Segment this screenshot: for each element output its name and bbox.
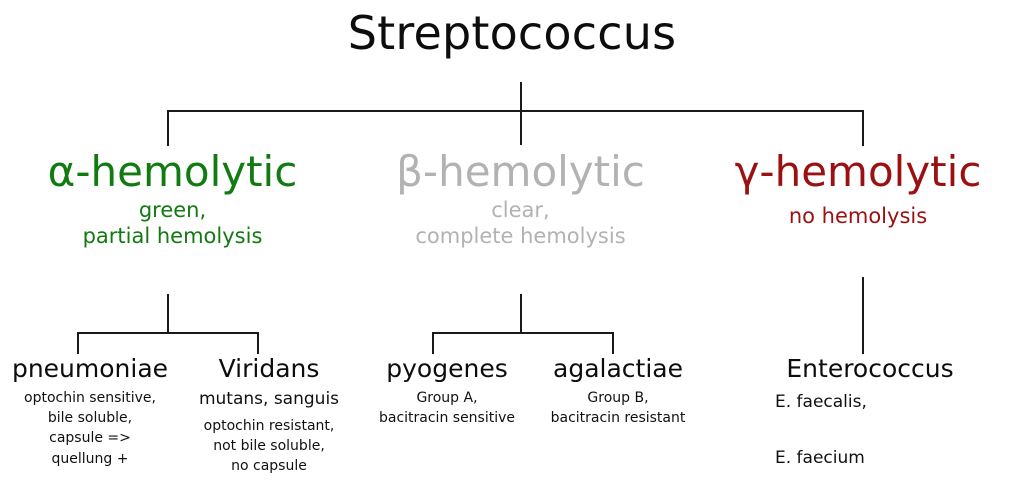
connector-alpha-crossbar: [77, 332, 259, 334]
diagram-canvas: Streptococcus α-hemolytic green, partial…: [0, 0, 1024, 496]
connector-beta-to-agalactiae: [612, 332, 614, 354]
leaf-pneumoniae-note: optochin sensitive, bile soluble, capsul…: [0, 388, 180, 469]
connector-root-to-gamma: [862, 110, 864, 146]
connector-beta-to-pyogenes: [432, 332, 434, 354]
group-gamma-hemolytic: γ-hemolytic no hemolysis: [692, 150, 1024, 230]
leaf-node-viridans: Viridans mutans, sanguis optochin resist…: [178, 355, 360, 476]
leaf-viridans-title: Viridans: [178, 355, 360, 384]
leaf-node-pneumoniae: pneumoniae optochin sensitive, bile solu…: [0, 355, 180, 469]
connector-alpha-stem: [167, 294, 169, 333]
connector-alpha-to-viridans: [257, 332, 259, 354]
group-beta-title: β-hemolytic: [348, 150, 693, 194]
connector-root-stem: [520, 82, 522, 145]
group-beta-hemolytic: β-hemolytic clear, complete hemolysis: [348, 150, 693, 249]
connector-root-to-alpha: [167, 110, 169, 146]
leaf-node-enterococcus: Enterococcus E. faecalis, E. faecium: [745, 355, 995, 472]
leaf-node-agalactiae: agalactiae Group B, bacitracin resistant: [527, 355, 709, 428]
leaf-pneumoniae-title: pneumoniae: [0, 355, 180, 384]
group-alpha-hemolytic: α-hemolytic green, partial hemolysis: [0, 150, 345, 249]
group-alpha-title: α-hemolytic: [0, 150, 345, 194]
group-gamma-subtitle: no hemolysis: [692, 204, 1024, 230]
connector-alpha-to-pneumoniae: [77, 332, 79, 354]
root-node-streptococcus: Streptococcus: [0, 6, 1024, 61]
leaf-node-pyogenes: pyogenes Group A, bacitracin sensitive: [362, 355, 532, 428]
leaf-viridans-note: optochin resistant, not bile soluble, no…: [178, 416, 360, 477]
leaf-agalactiae-title: agalactiae: [527, 355, 709, 384]
connector-root-crossbar: [167, 110, 864, 112]
connector-beta-stem: [520, 294, 522, 333]
connector-gamma-to-enterococcus: [862, 277, 864, 354]
connector-beta-crossbar: [432, 332, 613, 334]
leaf-enterococcus-title: Enterococcus: [745, 355, 995, 384]
leaf-pyogenes-title: pyogenes: [362, 355, 532, 384]
group-gamma-title: γ-hemolytic: [692, 150, 1024, 194]
leaf-enterococcus-note: E. faecalis, E. faecium: [745, 388, 995, 472]
leaf-viridans-species: mutans, sanguis: [178, 388, 360, 412]
group-alpha-subtitle: green, partial hemolysis: [0, 198, 345, 249]
group-beta-subtitle: clear, complete hemolysis: [348, 198, 693, 249]
leaf-agalactiae-note: Group B, bacitracin resistant: [527, 388, 709, 429]
leaf-pyogenes-note: Group A, bacitracin sensitive: [362, 388, 532, 429]
